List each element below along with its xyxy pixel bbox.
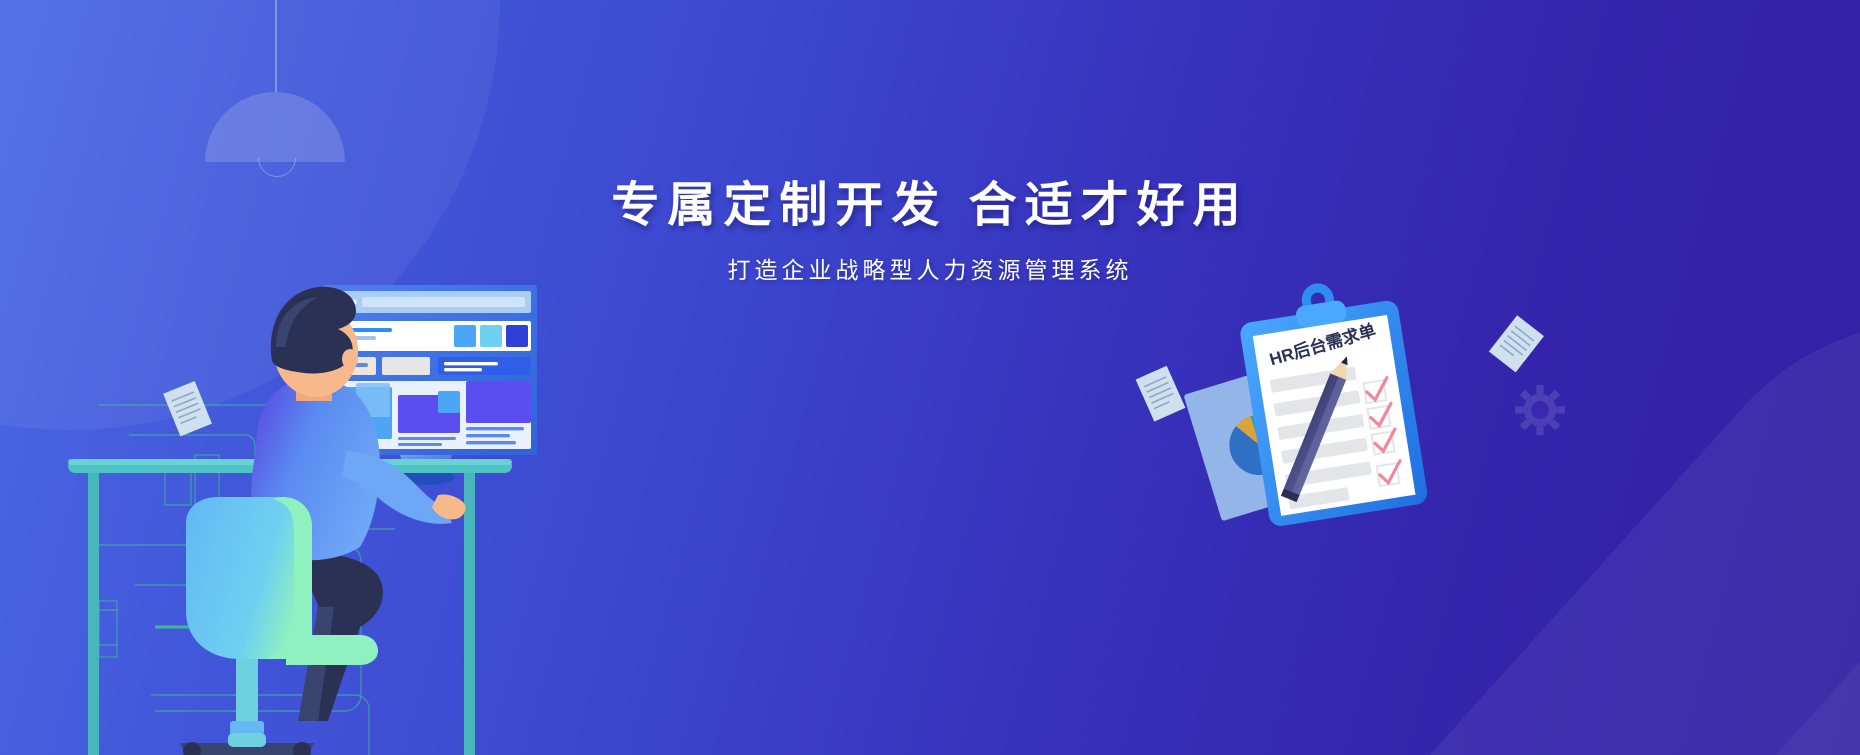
person-at-desk-illustration <box>60 255 620 755</box>
gear-right-icon <box>1515 385 1565 435</box>
lined-document-right-icon <box>1485 312 1545 376</box>
diagonal-shape-secondary <box>1464 321 1860 755</box>
lamp-shade-icon <box>205 92 345 162</box>
banner-text-block: 专属定制开发 合适才好用 打造企业战略型人力资源管理系统 <box>0 178 1860 285</box>
hr-clipboard-illustration: HR后台需求单 <box>1180 275 1470 545</box>
lamp-bulb-icon <box>258 158 296 177</box>
hr-promo-banner: 专属定制开发 合适才好用 打造企业战略型人力资源管理系统 <box>0 0 1860 755</box>
page-subtitle: 打造企业战略型人力资源管理系统 <box>0 251 1860 285</box>
lamp-cord <box>275 0 277 92</box>
page-title: 专属定制开发 合适才好用 <box>0 178 1860 235</box>
